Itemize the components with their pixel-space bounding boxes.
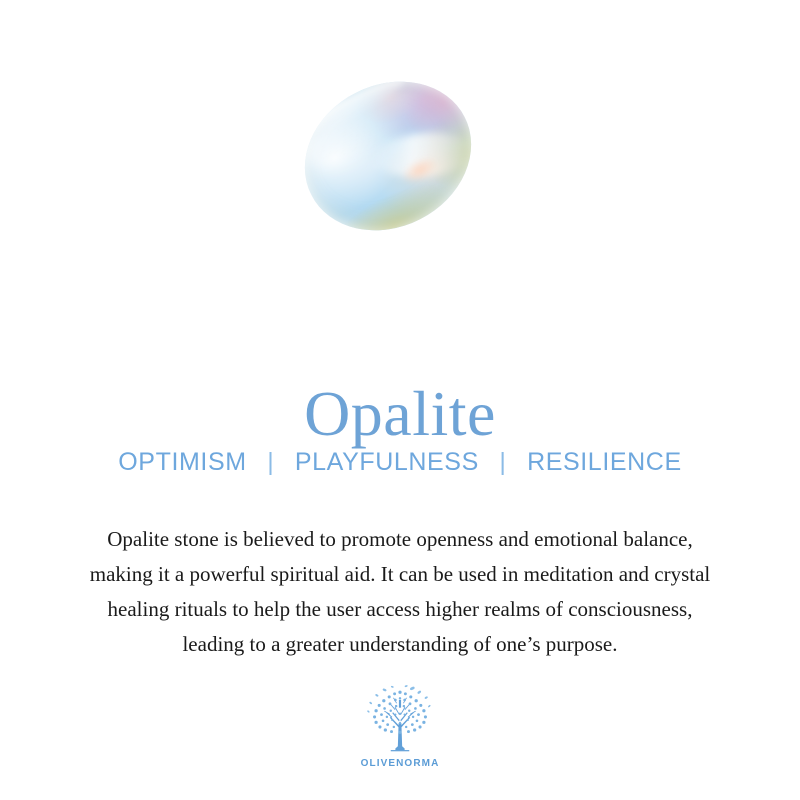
brand-wordmark: OLIVENORMA <box>340 758 460 769</box>
stone-edge-glow <box>279 54 497 259</box>
tree-of-life-icon <box>361 683 439 757</box>
keyword-resilience: RESILIENCE <box>527 448 682 476</box>
keyword-list: OPTIMISM | PLAYFULNESS | RESILIENCE <box>0 445 800 479</box>
keyword-playfulness: PLAYFULNESS <box>295 448 479 476</box>
opalite-stone-image <box>279 54 497 259</box>
keyword-optimism: OPTIMISM <box>118 448 246 476</box>
description-text: Opalite stone is believed to promote ope… <box>0 522 800 662</box>
hero-image-area <box>0 55 800 255</box>
brand-logo: OLIVENORMA <box>340 683 460 769</box>
description-line: Opalite stone is believed to promote ope… <box>0 522 800 557</box>
keyword-separator: | <box>254 445 287 479</box>
description-line: leading to a greater understanding of on… <box>0 627 800 662</box>
description-line: making it a powerful spiritual aid. It c… <box>0 557 800 592</box>
description-line: healing rituals to help the user access … <box>0 592 800 627</box>
opalite-info-card: Opalite OPTIMISM | PLAYFULNESS | RESILIE… <box>0 0 800 800</box>
keyword-separator: | <box>486 445 519 479</box>
page-title: Opalite <box>0 379 800 449</box>
stone-body <box>279 54 497 259</box>
